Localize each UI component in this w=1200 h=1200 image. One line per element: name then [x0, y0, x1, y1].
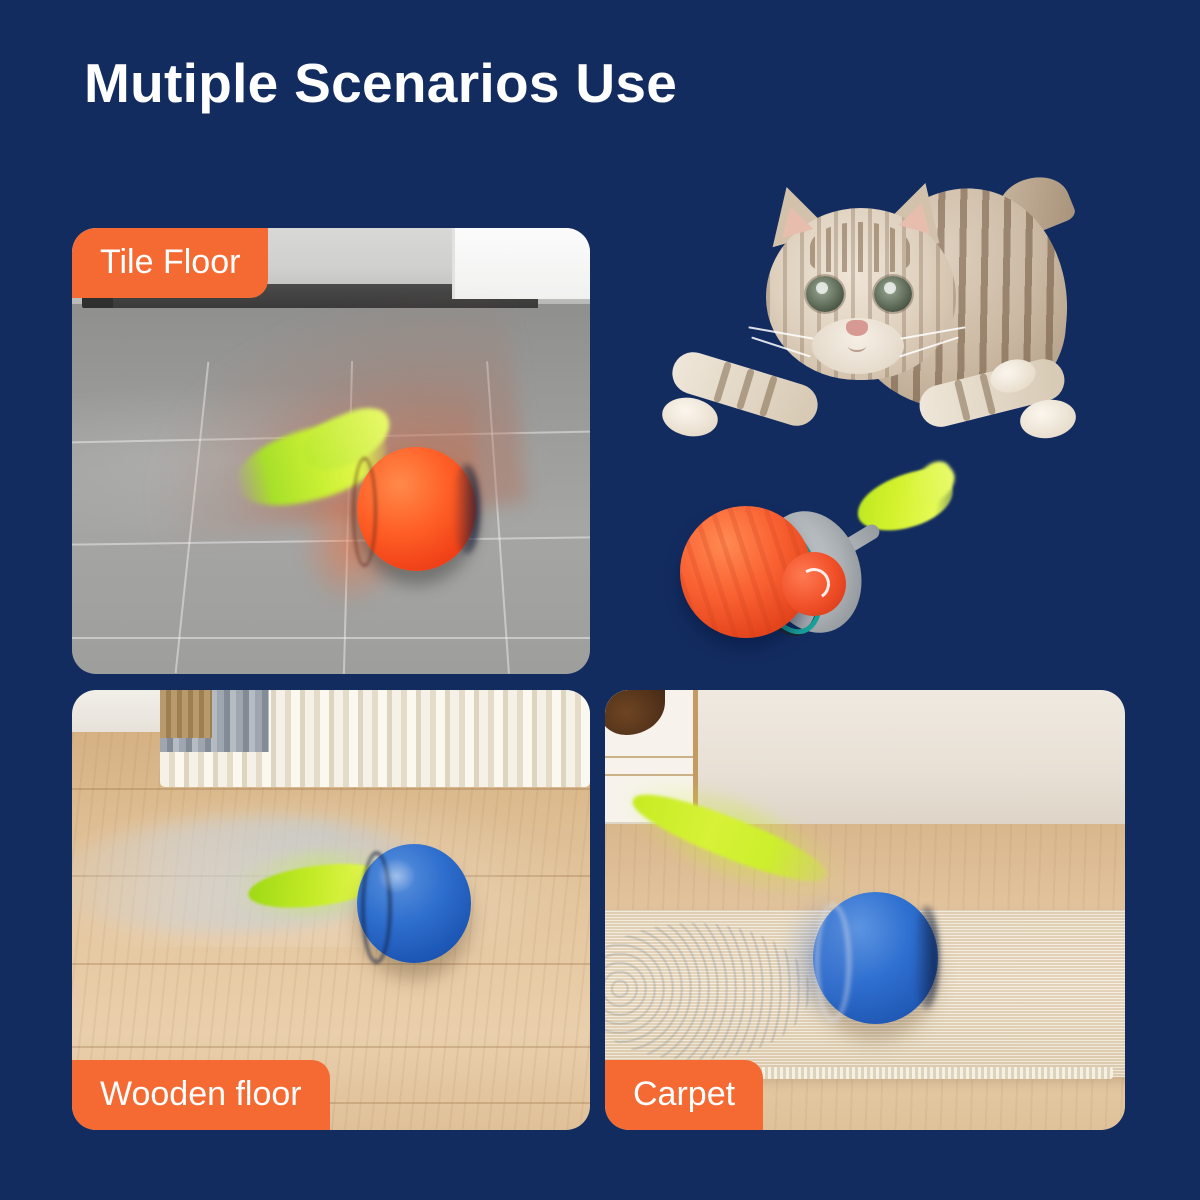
- page-title: Mutiple Scenarios Use: [84, 55, 677, 113]
- cat-leg-stripe: [759, 375, 778, 417]
- cat-leg-stripe: [713, 361, 732, 403]
- wood-plank-seam: [72, 1046, 590, 1048]
- hero-illustration: [660, 160, 1120, 640]
- curtain-wood-trim: [160, 690, 212, 738]
- cat-mouth: [848, 340, 866, 352]
- ball-highlight: [377, 858, 416, 894]
- cat-ball-toy: [357, 844, 471, 963]
- cat-eye-left: [806, 276, 844, 312]
- framed-picture-line: [605, 756, 693, 758]
- scenario-card-wooden-floor[interactable]: Wooden floor: [72, 690, 590, 1130]
- wood-plank-seam: [72, 963, 590, 965]
- hero-product-ball: [680, 480, 920, 640]
- tile-grout-line: [72, 637, 590, 639]
- swirl-power-icon: [795, 565, 833, 603]
- scenario-card-tile-floor[interactable]: Tile Floor: [72, 228, 590, 674]
- framed-picture-line: [605, 774, 693, 776]
- cat-ball-toy: [813, 892, 938, 1024]
- cat-nose: [846, 320, 868, 336]
- badge-carpet: Carpet: [605, 1060, 763, 1130]
- cat-ball-toy: [357, 447, 476, 572]
- scenario-card-carpet[interactable]: Carpet: [605, 690, 1125, 1130]
- tile-scene-doorframe: [452, 228, 590, 299]
- badge-tile-floor: Tile Floor: [72, 228, 268, 298]
- ball-shadow-side: [453, 464, 479, 554]
- carpet-rug-pattern: [605, 923, 810, 1060]
- framed-picture-art: [605, 690, 665, 735]
- ball-wheel-ring: [352, 457, 377, 568]
- cat-forehead-stripes: [810, 222, 910, 272]
- cat-leg-stripe: [736, 368, 755, 410]
- badge-wooden-floor: Wooden floor: [72, 1060, 330, 1130]
- cat-leg-stripe: [954, 379, 971, 421]
- ball-shadow-side: [914, 906, 939, 1009]
- ball-wheel-ring: [815, 903, 850, 1022]
- cat-eye-right: [874, 276, 912, 312]
